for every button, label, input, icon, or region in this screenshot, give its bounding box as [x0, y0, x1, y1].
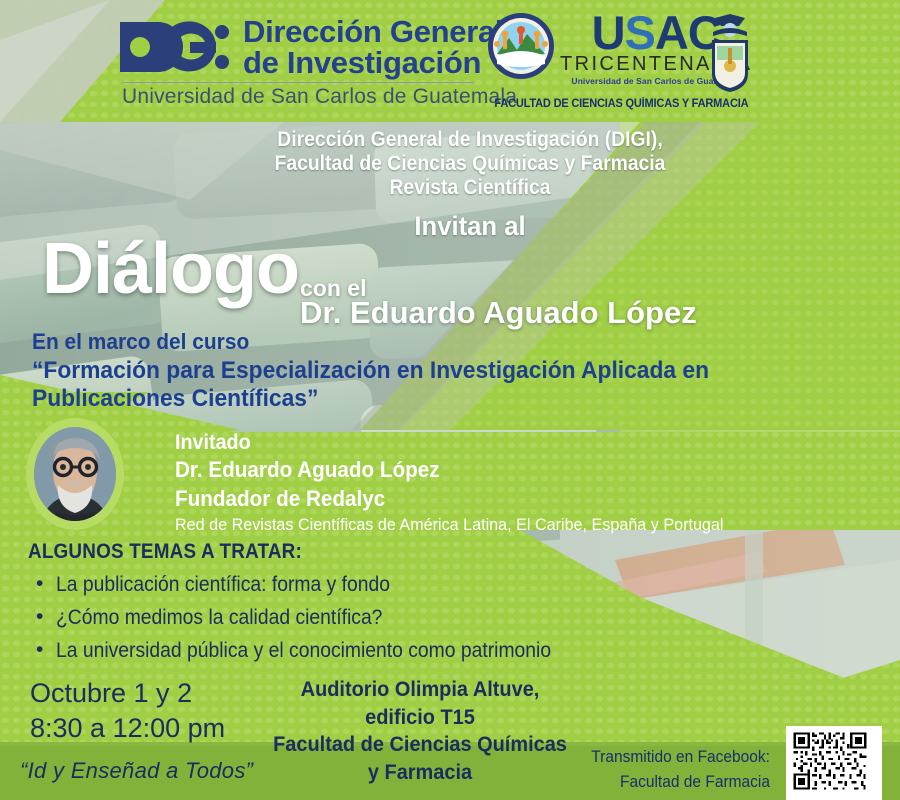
org-line-1: Dirección General de Investigación (DIGI… — [203, 128, 737, 152]
list-item: • La universidad pública y el conocimien… — [28, 639, 594, 663]
digi-line-2: de Investigación — [243, 47, 503, 78]
avatar — [26, 418, 124, 530]
digi-university-label: Universidad de San Carlos de Guatemala — [118, 85, 517, 109]
broadcast-block: Transmitido en Facebook: Facultad de Far… — [535, 745, 770, 800]
course-frame-block: En el marco del curso “Formación para Es… — [32, 329, 900, 414]
course-intro: En el marco del curso — [32, 329, 857, 355]
broadcast-label: Transmitido en Facebook: — [535, 745, 770, 770]
venue-line-1: Auditorio Olimpia Altuve, edificio T15 — [263, 676, 577, 731]
digi-line-1: Dirección General — [243, 16, 503, 47]
digi-logo: Dirección General de Investigación Unive… — [118, 16, 517, 109]
qr-code-matrix — [790, 730, 870, 792]
org-line-2: Facultad de Ciencias Químicas y Farmacia — [203, 152, 737, 176]
org-line-3: Revista Científica — [203, 176, 737, 200]
course-name: “Formación para Especialización en Inves… — [32, 357, 857, 414]
guest-description: Red de Revistas Científicas de América L… — [175, 515, 723, 535]
bullet-icon: • — [28, 573, 56, 594]
guest-role: Fundador de Redalyc — [175, 486, 718, 512]
guest-info-block: Invitado Dr. Eduardo Aguado López Fundad… — [175, 430, 752, 535]
event-date: Octubre 1 y 2 — [30, 676, 225, 711]
bullet-icon: • — [28, 639, 56, 660]
speaker-portrait-photo — [34, 427, 116, 521]
usac-letter-u: U — [592, 6, 625, 59]
faculty-shield-icon — [705, 10, 755, 94]
usac-letter-s: S — [625, 6, 655, 59]
poster-header: Dirección General de Investigación Unive… — [0, 0, 900, 122]
digi-monogram-icon — [118, 16, 236, 78]
venue-line-3: y Farmacia — [263, 759, 577, 787]
topics-block: ALGUNOS TEMAS A TRATAR: • La publicación… — [28, 540, 594, 663]
venue-line-2: Facultad de Ciencias Químicas — [263, 731, 577, 759]
topic-text: ¿Cómo medimos la calidad científica? — [56, 606, 382, 630]
event-time: 8:30 a 12:00 pm — [30, 711, 225, 746]
list-item: • La publicación científica: forma y fon… — [28, 573, 594, 597]
schedule-block: Octubre 1 y 2 8:30 a 12:00 pm — [30, 676, 225, 746]
event-poster: Dirección General de Investigación Unive… — [0, 0, 900, 800]
page-title: Diálogo — [42, 228, 299, 310]
venue-block: Auditorio Olimpia Altuve, edificio T15 F… — [263, 676, 577, 787]
broadcast-channel: Facultad de Farmacia Transmisiones — [535, 770, 770, 800]
title-speaker-name: Dr. Eduardo Aguado López — [300, 295, 697, 331]
qr-code-icon[interactable] — [786, 726, 882, 800]
divider — [122, 82, 474, 83]
topic-text: La universidad pública y el conocimiento… — [56, 639, 551, 663]
topics-list: • La publicación científica: forma y fon… — [28, 573, 594, 663]
facultad-label: FACULTAD DE CIENCIAS QUÍMICAS Y FARMACIA — [487, 98, 756, 110]
topics-heading: ALGUNOS TEMAS A TRATAR: — [28, 540, 538, 564]
guest-name: Dr. Eduardo Aguado López — [175, 457, 718, 483]
topic-text: La publicación científica: forma y fondo — [56, 573, 390, 597]
invitation-block: Dirección General de Investigación (DIGI… — [180, 128, 760, 242]
guest-label: Invitado — [175, 430, 718, 455]
university-motto: “Id y Enseñad a Todos” — [20, 758, 253, 784]
bullet-icon: • — [28, 606, 56, 627]
usac-seal-icon — [487, 12, 555, 80]
list-item: • ¿Cómo medimos la calidad científica? — [28, 606, 594, 630]
